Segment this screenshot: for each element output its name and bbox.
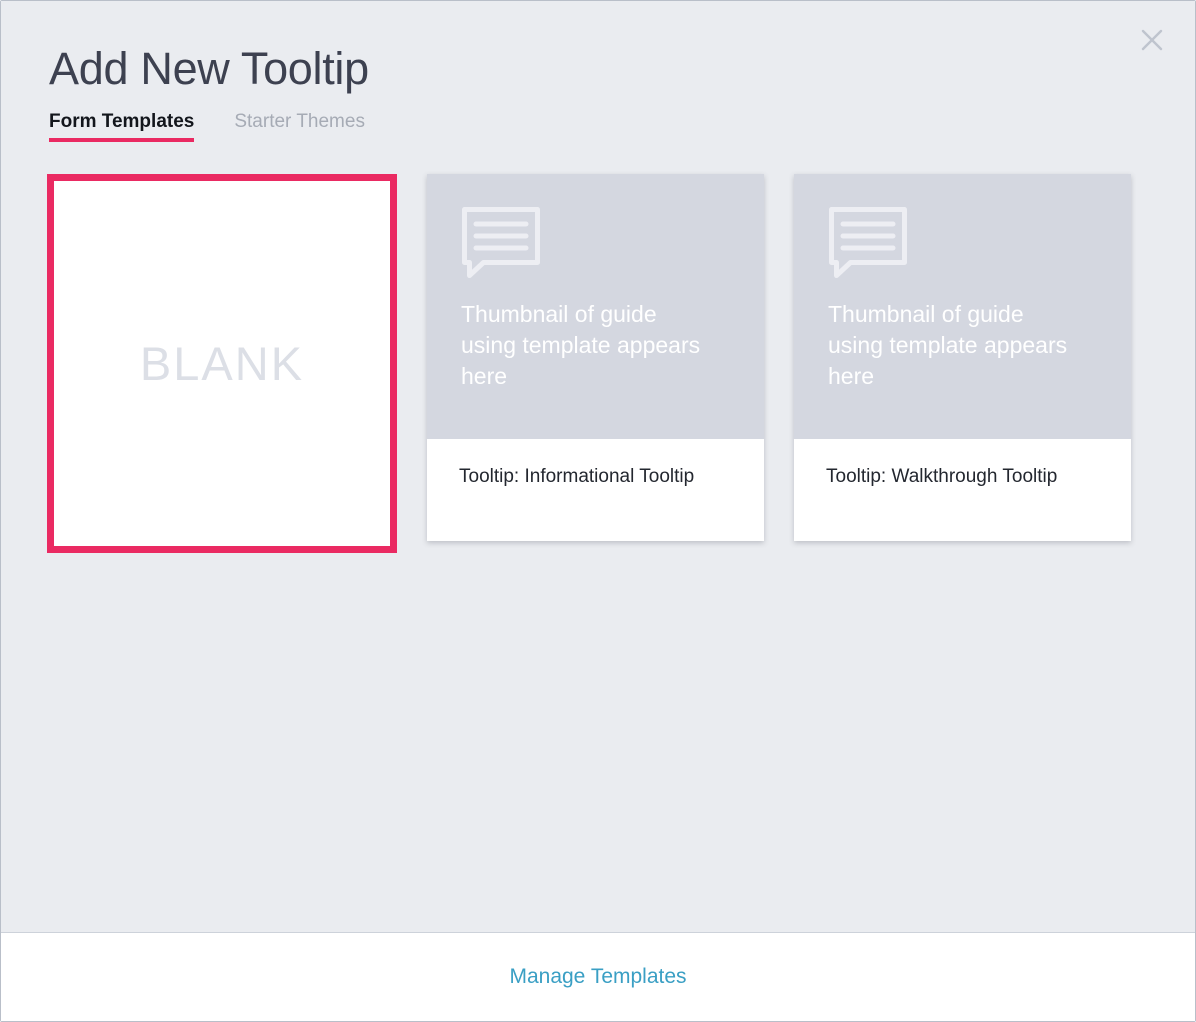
tab-bar: Form Templates Starter Themes <box>49 108 1149 142</box>
tab-form-templates[interactable]: Form Templates <box>49 111 194 142</box>
template-thumbnail: Thumbnail of guide using template appear… <box>794 174 1131 439</box>
template-card-informational-tooltip[interactable]: Thumbnail of guide using template appear… <box>427 174 764 541</box>
speech-bubble-icon <box>828 206 1097 285</box>
template-card-footer: Tooltip: Informational Tooltip <box>427 439 764 541</box>
template-grid: BLANK Thumbnail of guide using template … <box>47 174 1149 553</box>
template-card-walkthrough-tooltip[interactable]: Thumbnail of guide using template appear… <box>794 174 1131 541</box>
page-title: Add New Tooltip <box>49 45 1149 92</box>
template-name: Tooltip: Walkthrough Tooltip <box>826 465 1099 490</box>
close-button[interactable] <box>1135 23 1169 57</box>
add-new-tooltip-dialog: Add New Tooltip Form Templates Starter T… <box>0 0 1196 1022</box>
template-card-blank[interactable]: BLANK <box>47 174 397 553</box>
template-name: Tooltip: Informational Tooltip <box>459 465 732 490</box>
tab-starter-themes[interactable]: Starter Themes <box>234 111 365 142</box>
template-card-footer: Tooltip: Walkthrough Tooltip <box>794 439 1131 541</box>
blank-label: BLANK <box>140 336 304 391</box>
close-icon <box>1139 27 1165 53</box>
speech-bubble-icon <box>461 206 730 285</box>
template-thumbnail-text: Thumbnail of guide using template appear… <box>461 299 716 392</box>
template-thumbnail: Thumbnail of guide using template appear… <box>427 174 764 439</box>
dialog-footer: Manage Templates <box>1 932 1195 1021</box>
dialog-body: Add New Tooltip Form Templates Starter T… <box>1 1 1195 932</box>
manage-templates-link[interactable]: Manage Templates <box>509 965 686 989</box>
template-thumbnail-text: Thumbnail of guide using template appear… <box>828 299 1083 392</box>
